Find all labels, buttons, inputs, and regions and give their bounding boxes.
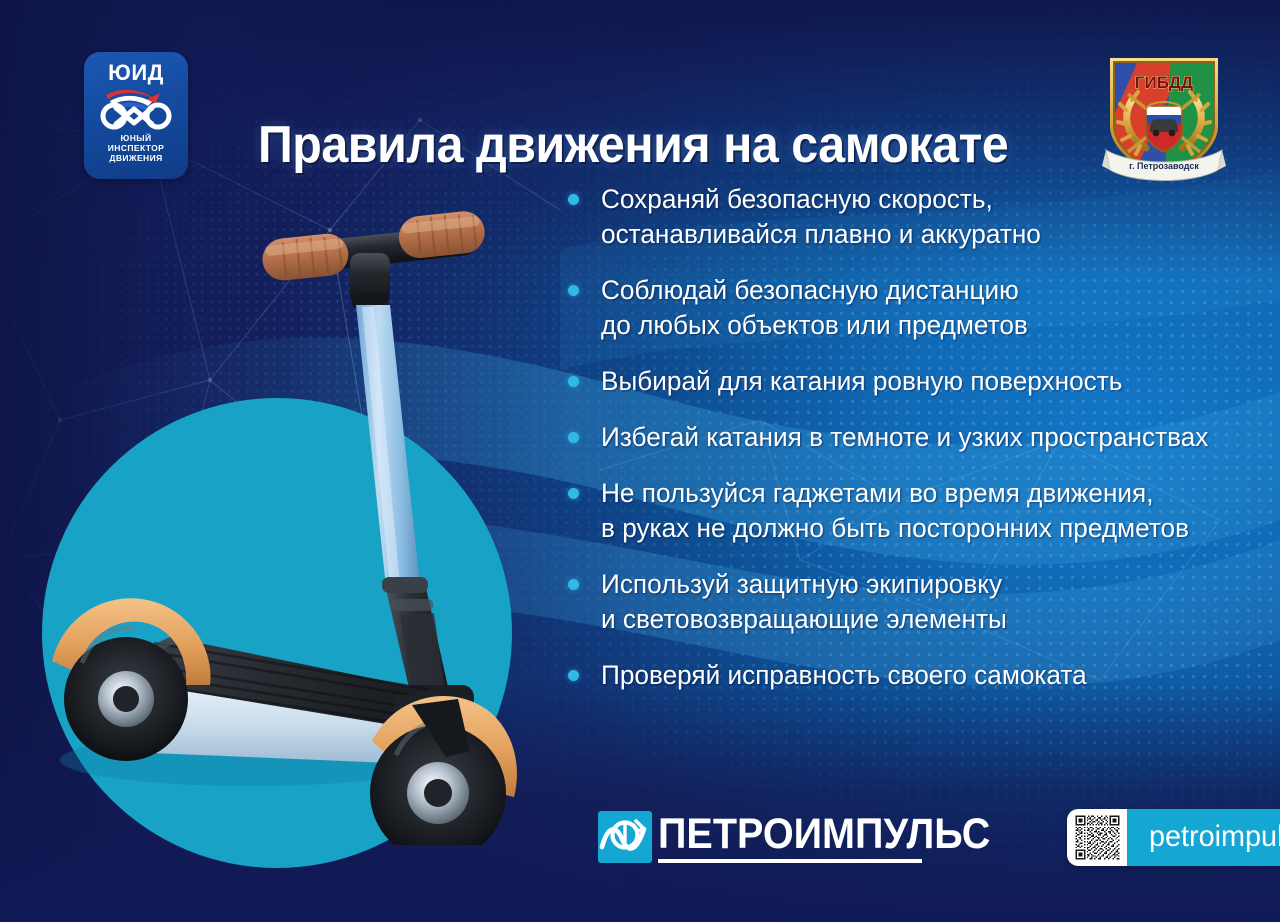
list-item: Избегай катания в темноте и узких простр… bbox=[568, 420, 1248, 455]
bullet-dot-icon bbox=[568, 579, 579, 590]
rule-text: Выбирай для катания ровную поверхность bbox=[601, 364, 1122, 399]
list-item: Используй защитную экипировку и световоз… bbox=[568, 567, 1248, 637]
yuid-subtitle-line2: ИНСПЕКТОР bbox=[108, 143, 164, 153]
scooter-front-wheel bbox=[370, 696, 517, 845]
scooter-handlebar bbox=[260, 209, 488, 309]
rule-text: Сохраняй безопасную скорость, останавлив… bbox=[601, 182, 1041, 252]
gibdd-emblem: ГИБДД bbox=[1102, 48, 1226, 184]
list-item: Сохраняй безопасную скорость, останавлив… bbox=[568, 182, 1248, 252]
petroimpuls-monogram-icon bbox=[598, 811, 652, 863]
scooter-illustration bbox=[0, 185, 560, 845]
gibdd-ribbon-text: г. Петрозаводск bbox=[1129, 161, 1199, 171]
petroimpuls-logo: ПЕТРОИМПУЛЬС bbox=[598, 811, 1019, 863]
gibdd-center-shield bbox=[1146, 102, 1182, 152]
rule-text: Избегай катания в темноте и узких простр… bbox=[601, 420, 1208, 455]
bullet-dot-icon bbox=[568, 670, 579, 681]
bullet-dot-icon bbox=[568, 194, 579, 205]
yuid-subtitle: ЮНЫЙ ИНСПЕКТОР ДВИЖЕНИЯ bbox=[108, 133, 164, 163]
list-item: Не пользуйся гаджетами во время движения… bbox=[568, 476, 1248, 546]
list-item: Соблюдай безопасную дистанцию до любых о… bbox=[568, 273, 1248, 343]
svg-text:ГИБДД: ГИБДД bbox=[1135, 73, 1193, 92]
rule-text: Соблюдай безопасную дистанцию до любых о… bbox=[601, 273, 1028, 343]
bullet-dot-icon bbox=[568, 285, 579, 296]
page-title: Правила движения на самокате bbox=[258, 119, 993, 171]
list-item: Выбирай для катания ровную поверхность bbox=[568, 364, 1248, 399]
rule-text: Не пользуйся гаджетами во время движения… bbox=[601, 476, 1189, 546]
poster-root: ЮИД ЮНЫЙ ИНСПЕКТОР ДВИЖЕНИЯ bbox=[0, 0, 1280, 922]
petroimpuls-wordmark: ПЕТРОИМПУЛЬС bbox=[658, 812, 990, 856]
website-url-label[interactable]: petroimpuls.ru bbox=[1149, 822, 1280, 852]
yuid-subtitle-line1: ЮНЫЙ bbox=[108, 133, 164, 143]
yuid-subtitle-line3: ДВИЖЕНИЯ bbox=[108, 153, 164, 163]
yuid-logo: ЮИД ЮНЫЙ ИНСПЕКТОР ДВИЖЕНИЯ bbox=[84, 52, 188, 179]
bullet-dot-icon bbox=[568, 376, 579, 387]
scooter-stem bbox=[356, 305, 420, 587]
list-item: Проверяй исправность своего самоката bbox=[568, 658, 1248, 693]
bullet-dot-icon bbox=[568, 432, 579, 443]
qr-code-container[interactable] bbox=[1067, 809, 1127, 866]
petroimpuls-underline bbox=[658, 859, 922, 863]
yuid-bicycle-icon bbox=[90, 85, 182, 131]
rules-list: Сохраняй безопасную скорость, останавлив… bbox=[568, 182, 1248, 693]
rule-text: Используй защитную экипировку и световоз… bbox=[601, 567, 1007, 637]
footer-brand-row: ПЕТРОИМПУЛЬС bbox=[598, 806, 1280, 868]
qr-website-badge[interactable]: petroimpuls.ru bbox=[1067, 809, 1280, 866]
rule-text: Проверяй исправность своего самоката bbox=[601, 658, 1087, 693]
qr-code-icon bbox=[1074, 814, 1121, 861]
bullet-dot-icon bbox=[568, 488, 579, 499]
yuid-abbreviation: ЮИД bbox=[108, 62, 164, 84]
